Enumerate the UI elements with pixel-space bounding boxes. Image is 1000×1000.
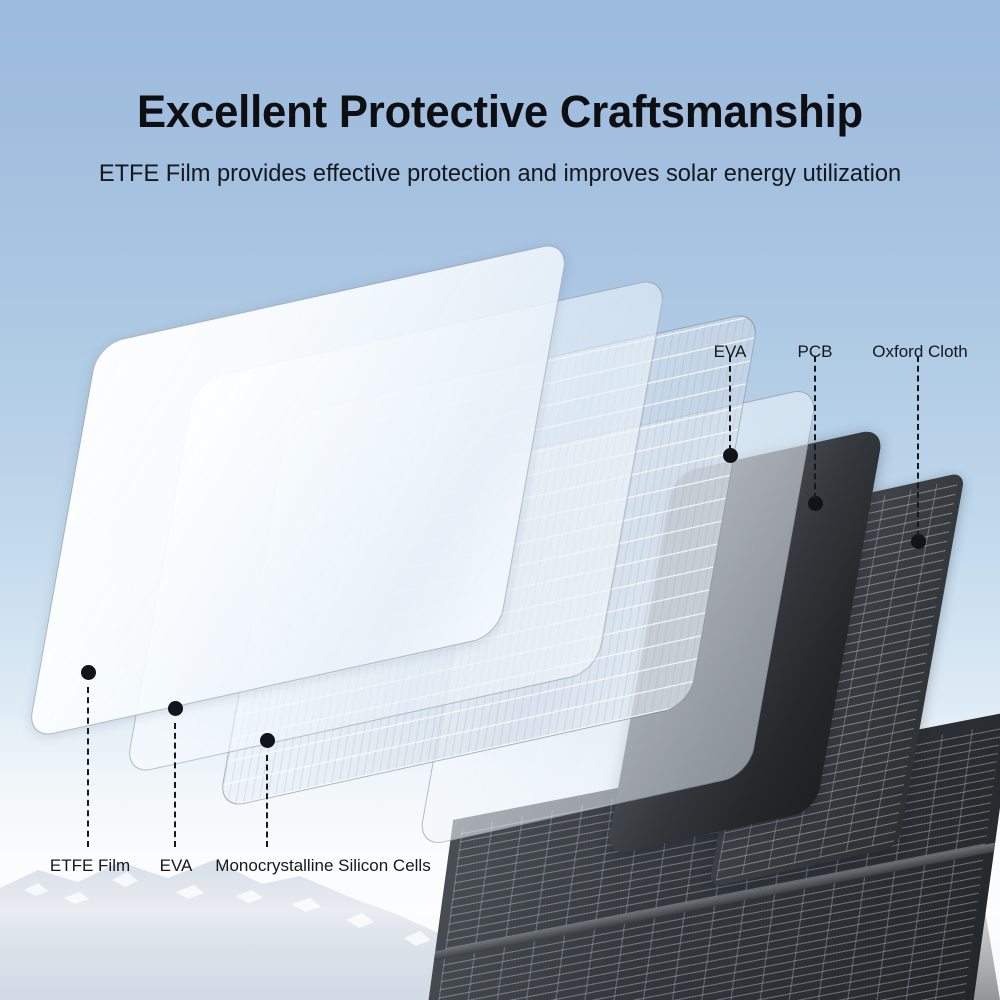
callout-label-oxford-cloth: Oxford Cloth bbox=[872, 342, 967, 362]
page-subtitle: ETFE Film provides effective protection … bbox=[8, 160, 993, 188]
callout-dot-bottom-0 bbox=[81, 665, 96, 680]
callout-leader-line-top-2 bbox=[917, 356, 919, 537]
callout-dot-bottom-2 bbox=[260, 733, 275, 748]
callout-leader-line-bottom-0 bbox=[87, 687, 89, 847]
callout-leader-line-bottom-2 bbox=[266, 755, 268, 847]
callout-leader-line-top-1 bbox=[814, 356, 816, 499]
callout-label-etfe-film: ETFE Film bbox=[50, 856, 130, 876]
callout-dot-bottom-1 bbox=[168, 701, 183, 716]
infographic-canvas: EVAPCBOxford Cloth ETFE FilmEVAMonocryst… bbox=[0, 0, 1000, 1000]
callout-label-eva: EVA bbox=[160, 856, 193, 876]
callout-label-eva: EVA bbox=[714, 342, 747, 362]
callout-leader-line-bottom-1 bbox=[174, 723, 176, 847]
exploded-layer-stack bbox=[0, 0, 1000, 1000]
callout-label-pcb: PCB bbox=[798, 342, 833, 362]
page-title: Excellent Protective Craftsmanship bbox=[15, 86, 985, 138]
callout-leader-line-top-0 bbox=[729, 356, 731, 451]
callout-label-monocrystalline-silicon-cells: Monocrystalline Silicon Cells bbox=[215, 856, 430, 876]
